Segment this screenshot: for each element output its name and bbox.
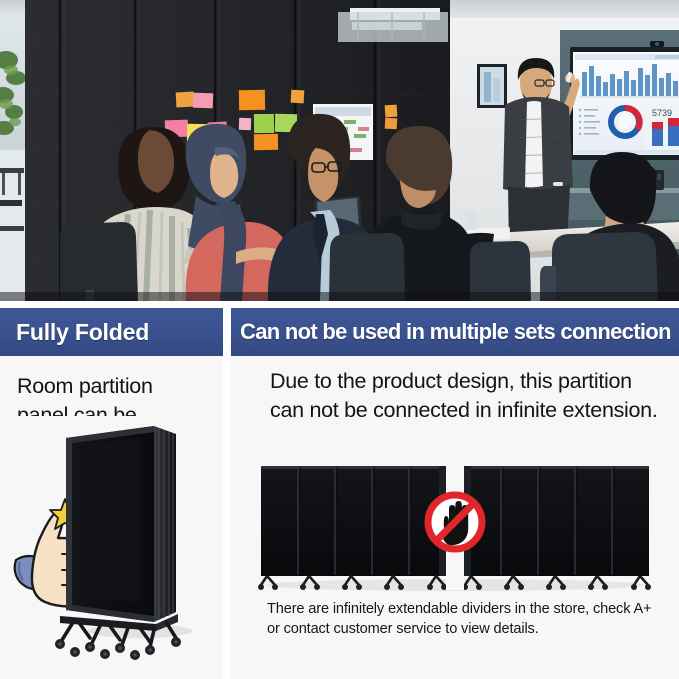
partition-set-left [258, 466, 447, 590]
office-chair-left [60, 222, 138, 301]
panel-header-right-text: Can not be used in multiple sets connect… [231, 319, 671, 345]
product-feature-page: 5739 [0, 0, 679, 679]
panel-right-body-text: Due to the product design, this partitio… [270, 367, 660, 425]
office-chair-center [329, 233, 405, 301]
panel-header-left: Fully Folded [0, 308, 223, 356]
framed-picture [477, 64, 507, 108]
panel-right-content: Due to the product design, this partitio… [231, 356, 679, 679]
two-partition-sets-illustration [231, 452, 679, 600]
panel-header-left-text: Fully Folded [0, 319, 149, 346]
column-divider [223, 356, 231, 679]
screen-metric-panel: 5739 [646, 102, 679, 152]
wall-display-screen: 5739 [570, 41, 679, 160]
panel-header-right: Can not be used in multiple sets connect… [231, 308, 679, 356]
panel-right-note-text: There are infinitely extendable dividers… [267, 600, 659, 640]
office-chair-right [540, 232, 658, 301]
conference-room-photo: 5739 [0, 0, 679, 301]
folded-partition-illustration [0, 416, 223, 679]
no-hand-icon [427, 494, 483, 550]
svg-text:5739: 5739 [652, 108, 672, 118]
panel-left-content: Room partition panel can be completely f… [0, 356, 223, 679]
partition-set-right [462, 466, 651, 590]
left-window-area [0, 14, 26, 301]
